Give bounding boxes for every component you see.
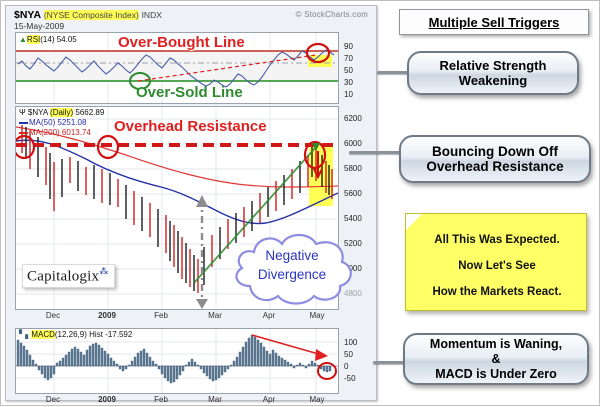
macd-ytick-0: 0 <box>344 362 348 371</box>
callout-relative-strength[interactable]: Relative Strength Weakening <box>407 51 579 95</box>
title-box: Multiple Sell Triggers <box>399 9 589 35</box>
price-ytick-5600: 5600 <box>344 189 362 198</box>
capitalogix-watermark: Capitalogix⁂ <box>22 264 115 288</box>
macd-hist-value: -17.592 <box>105 330 132 339</box>
macd-xaxis: Dec 2009 Feb Mar Apr May <box>15 395 339 407</box>
rsi-ytick-50: 50 <box>344 66 353 75</box>
macd-xlabel-mar: Mar <box>208 395 222 404</box>
price-xlabel-may: May <box>309 311 324 320</box>
callout-mo-line1: Momentum is Waning, <box>430 337 562 351</box>
rsi-ytick-30: 30 <box>344 78 353 87</box>
callout-bouncing-down[interactable]: Bouncing Down Off Overhead Resistance <box>399 135 591 183</box>
cloud-text: Negative Divergence <box>228 246 356 284</box>
price-xlabel-apr: Apr <box>263 311 275 320</box>
price-ytick-5800: 5800 <box>344 164 362 173</box>
rsi-icon: ▲ <box>19 35 27 44</box>
price-xlabel-feb: Feb <box>154 311 168 320</box>
chart-exchange: INDX <box>142 10 162 20</box>
macd-legend-label: MACD <box>31 330 55 339</box>
callout-bd-line2: Overhead Resistance <box>426 159 563 174</box>
macd-xlabel-2009: 2009 <box>98 395 116 404</box>
callout-rs-line1: Relative Strength <box>440 58 547 73</box>
price-xlabel-2009: 2009 <box>98 311 116 320</box>
cloud-line-2: Divergence <box>228 265 356 284</box>
ma200-legend: MA(200) 6013.74 <box>19 128 91 137</box>
price-xaxis: Dec 2009 Feb Mar Apr May <box>15 311 339 323</box>
screenshot-root: $NYA (NYSE Composite Index) INDX 15-May-… <box>0 0 600 406</box>
ma50-legend: MA(50) 5251.08 <box>19 118 86 127</box>
macd-icon: ▘▖ <box>19 330 31 339</box>
callout-bouncing-down-text: Bouncing Down Off Overhead Resistance <box>426 144 563 174</box>
macd-hist-label: Hist <box>89 330 103 339</box>
macd-xlabel-dec: Dec <box>46 395 60 404</box>
price-legend: Ψ $NYA (Daily) 5662.89 <box>19 108 104 117</box>
watermark-text: Capitalogix <box>27 268 99 284</box>
note-line-1: All This Was Expected. <box>406 234 588 246</box>
note-line-3: How the Markets React. <box>406 286 588 298</box>
chart-title: $NYA (NYSE Composite Index) INDX <box>14 9 162 21</box>
over-bought-line-label: Over-Bought Line <box>118 34 245 51</box>
macd-plot: ▘▖MACD(12,26,9) Hist -17.592 <box>15 328 339 394</box>
price-legend-symbol: $NYA <box>28 108 48 117</box>
ma50-value: 5251.08 <box>57 118 86 127</box>
macd-legend: ▘▖MACD(12,26,9) Hist -17.592 <box>19 330 132 339</box>
over-sold-line-label: Over-Sold Line <box>136 84 243 101</box>
price-legend-period: (Daily) <box>50 108 73 117</box>
rsi-ytick-90: 90 <box>344 42 353 51</box>
cloud-line-1: Negative <box>228 246 356 265</box>
macd-xlabel-feb: Feb <box>154 395 168 404</box>
macd-ytick-50: 50 <box>344 350 353 359</box>
connector-momentum <box>373 361 407 364</box>
note-line-2: Now Let's See <box>406 260 588 272</box>
ma50-swatch-icon <box>19 122 28 124</box>
note-fold-icon <box>406 214 422 230</box>
price-ytick-6000: 6000 <box>344 139 362 148</box>
price-xlabel-dec: Dec <box>46 311 60 320</box>
price-xlabel-mar: Mar <box>208 311 222 320</box>
negative-divergence-cloud: Negative Divergence <box>228 228 356 306</box>
callout-relative-strength-text: Relative Strength Weakening <box>440 58 547 88</box>
rsi-legend-value: 54.05 <box>57 35 77 44</box>
price-ytick-5400: 5400 <box>344 214 362 223</box>
macd-xlabel-apr: Apr <box>263 395 275 404</box>
stockcharts-credit: © StockCharts.com <box>296 10 368 19</box>
callout-momentum[interactable]: Momentum is Waning, & MACD is Under Zero <box>403 333 589 385</box>
callout-bd-line1: Bouncing Down Off <box>432 144 558 159</box>
ma200-swatch-icon <box>19 132 28 134</box>
rsi-legend: ▲RSI(14) 54.05 <box>19 35 77 44</box>
watermark-dots-icon: ⁂ <box>99 266 108 276</box>
callout-mo-line2: & <box>491 352 500 366</box>
candle-icon: Ψ <box>19 108 26 117</box>
chart-index-name: (NYSE Composite Index) <box>44 10 139 20</box>
sticky-note: All This Was Expected. Now Let's See How… <box>405 213 587 311</box>
ma50-label: MA(50) <box>29 118 55 127</box>
ma200-value: 6013.74 <box>62 128 91 137</box>
macd-ytick-100: 100 <box>344 338 357 347</box>
callout-rs-line2: Weakening <box>459 73 527 88</box>
macd-ytick-neg50: -50 <box>344 374 356 383</box>
callout-momentum-text: Momentum is Waning, & MACD is Under Zero <box>430 337 562 382</box>
rsi-ytick-10: 10 <box>344 90 353 99</box>
page-title: Multiple Sell Triggers <box>429 15 560 30</box>
overhead-resistance-label: Overhead Resistance <box>114 118 267 135</box>
ma200-label: MA(200) <box>29 128 60 137</box>
macd-xlabel-may: May <box>309 395 324 404</box>
rsi-legend-params: (14) <box>40 35 54 44</box>
chart-date: 15-May-2009 <box>14 21 64 31</box>
price-ytick-6200: 6200 <box>344 114 362 123</box>
rsi-ytick-70: 70 <box>344 54 353 63</box>
callout-mo-line3: MACD is Under Zero <box>435 367 557 381</box>
macd-legend-params: (12,26,9) <box>55 330 87 339</box>
stockcharts-chart-panel: $NYA (NYSE Composite Index) INDX 15-May-… <box>5 5 377 401</box>
chart-symbol: $NYA <box>14 9 41 21</box>
rsi-legend-label: RSI <box>27 35 40 44</box>
price-legend-value: 5662.89 <box>75 108 104 117</box>
